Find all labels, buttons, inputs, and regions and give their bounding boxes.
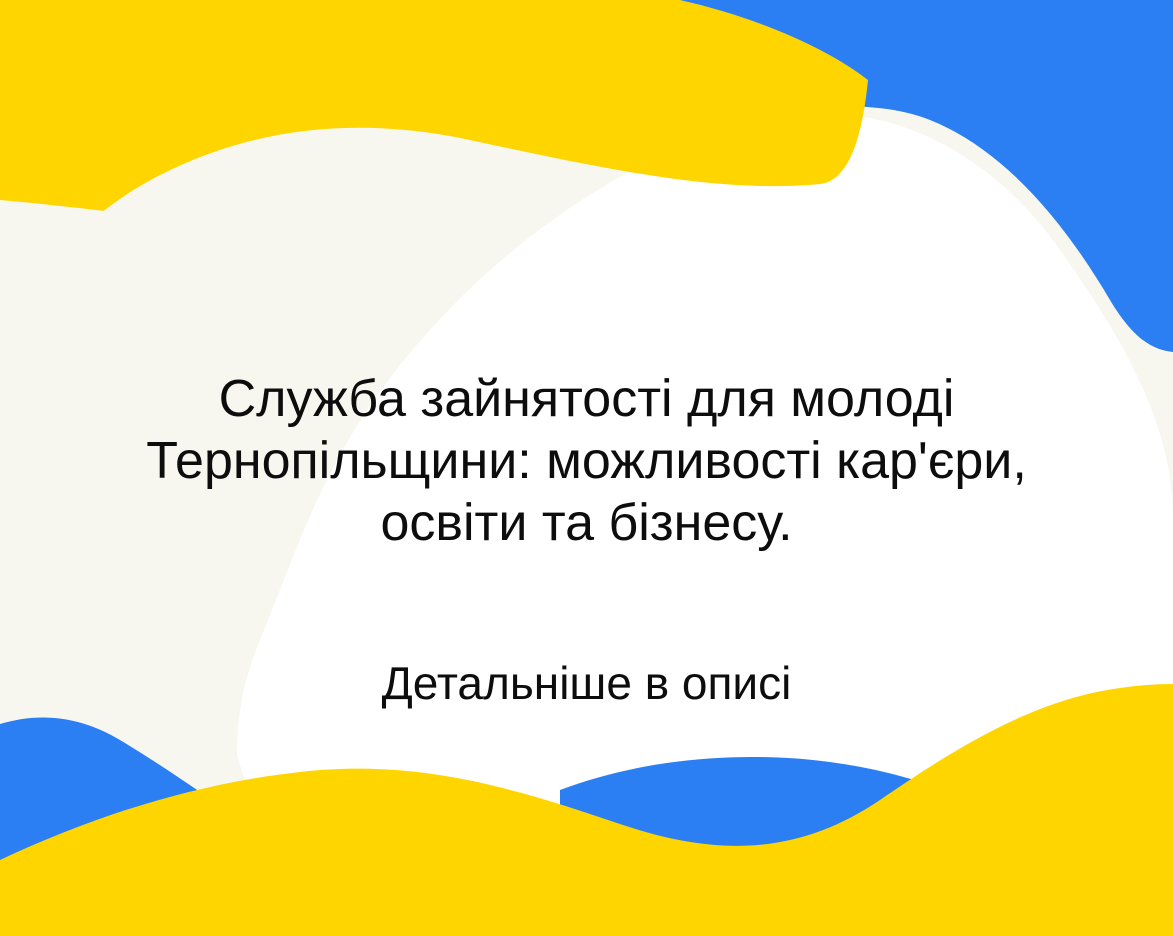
poster-canvas: Служба зайнятості для молоді Тернопільщи… (0, 0, 1173, 936)
background-decoration (0, 0, 1173, 936)
